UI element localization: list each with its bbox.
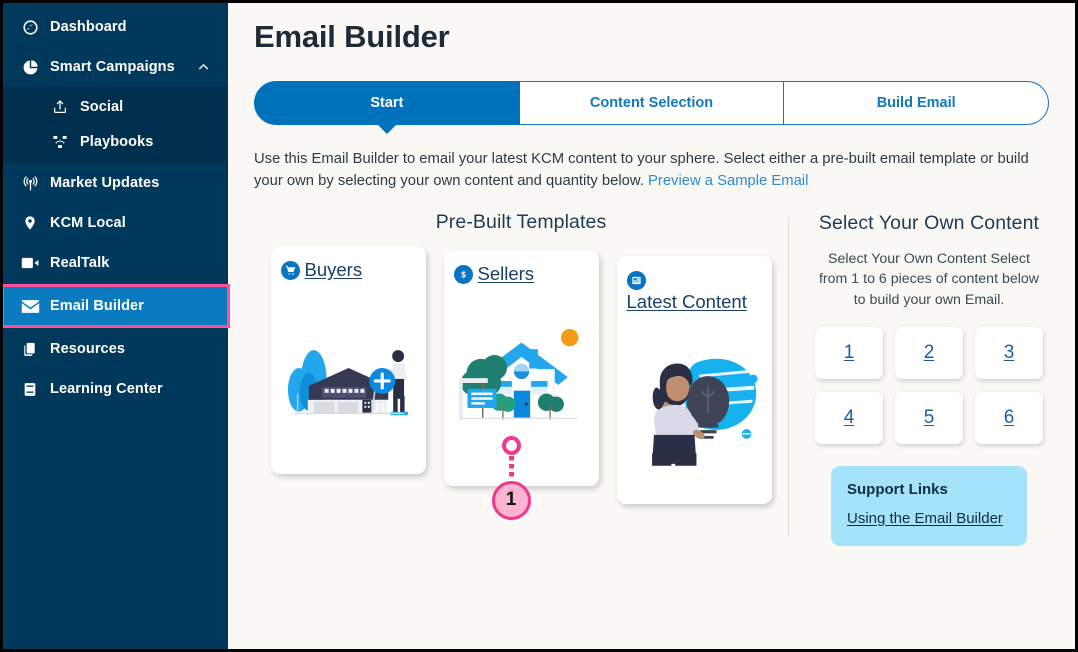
share-upload-icon xyxy=(49,98,71,116)
support-links-title: Support Links xyxy=(847,481,1011,498)
quantity-button-1[interactable]: 1 xyxy=(815,327,883,379)
app-window: Dashboard Smart Campaigns Social xyxy=(0,0,1078,652)
card-title[interactable]: Latest Content xyxy=(627,290,747,314)
sidebar-item-label: RealTalk xyxy=(50,255,109,271)
sidebar-item-label: Market Updates xyxy=(50,175,159,191)
quantity-button-4[interactable]: 4 xyxy=(815,392,883,444)
card-title[interactable]: Sellers xyxy=(478,262,535,286)
intro-text: Use this Email Builder to email your lat… xyxy=(254,151,1029,189)
dollar-sign-icon: $ xyxy=(454,265,473,284)
card-header: Latest Content xyxy=(627,268,762,314)
sidebar-item-learning-center[interactable]: Learning Center xyxy=(3,369,228,409)
sidebar-item-label: Email Builder xyxy=(50,298,144,314)
sidebar-item-kcm-local[interactable]: KCM Local xyxy=(3,203,228,243)
location-pin-icon xyxy=(19,214,41,232)
tab-build-email[interactable]: Build Email xyxy=(784,81,1049,125)
select-your-own-content-panel: Select Your Own Content Select Your Own … xyxy=(789,211,1049,546)
card-header: Buyers xyxy=(281,258,416,282)
house-for-sale-illustration xyxy=(454,285,589,475)
woman-with-lightbulb-illustration xyxy=(627,313,762,493)
page-title: Email Builder xyxy=(254,19,1049,55)
speedometer-icon xyxy=(19,18,41,36)
sidebar-item-realtalk[interactable]: RealTalk xyxy=(3,243,228,283)
sidebar-item-label: Dashboard xyxy=(50,19,127,35)
tab-label: Content Selection xyxy=(590,95,713,111)
preview-sample-email-link[interactable]: Preview a Sample Email xyxy=(648,173,808,189)
sitemap-icon xyxy=(49,133,71,151)
sidebar-item-label: Playbooks xyxy=(80,134,153,150)
svg-text:$: $ xyxy=(461,270,466,279)
tab-label: Build Email xyxy=(877,95,956,111)
quantity-button-5[interactable]: 5 xyxy=(895,392,963,444)
support-links-box: Support Links Using the Email Builder xyxy=(831,466,1027,546)
tab-content-selection[interactable]: Content Selection xyxy=(520,81,785,125)
chevron-up-icon[interactable] xyxy=(197,61,210,74)
video-camera-icon xyxy=(19,254,41,272)
news-article-icon xyxy=(627,271,646,290)
sidebar-submenu-smart-campaigns: Social Playbooks xyxy=(3,87,228,163)
sidebar-item-smart-campaigns[interactable]: Smart Campaigns xyxy=(3,47,228,87)
card-header: $ Sellers xyxy=(454,262,589,286)
template-card-latest-content[interactable]: Latest Content xyxy=(617,256,772,504)
sidebar-item-label: Resources xyxy=(50,341,125,357)
tab-start[interactable]: Start xyxy=(254,81,520,125)
intro-description: Use this Email Builder to email your lat… xyxy=(254,149,1049,193)
tab-bar: Start Content Selection Build Email xyxy=(254,81,1049,125)
card-title[interactable]: Buyers xyxy=(305,258,363,282)
select-content-heading: Select Your Own Content xyxy=(809,211,1049,235)
quantity-button-3[interactable]: 3 xyxy=(975,327,1043,379)
quantity-button-2[interactable]: 2 xyxy=(895,327,963,379)
shopping-cart-icon xyxy=(281,261,300,280)
tab-label: Start xyxy=(370,95,403,111)
using-the-email-builder-link[interactable]: Using the Email Builder xyxy=(847,510,1003,527)
house-with-buyer-illustration xyxy=(281,281,416,463)
template-card-buyers[interactable]: Buyers xyxy=(271,246,426,474)
template-card-list: Buyers xyxy=(254,246,788,504)
main-content: Email Builder Start Content Selection Bu… xyxy=(228,3,1075,649)
select-content-description: Select Your Own Content Select from 1 to… xyxy=(809,249,1049,311)
pie-chart-icon xyxy=(19,58,41,76)
sidebar-item-social[interactable]: Social xyxy=(3,89,228,124)
book-icon xyxy=(19,380,41,398)
quantity-button-6[interactable]: 6 xyxy=(975,392,1043,444)
pre-built-templates-heading: Pre-Built Templates xyxy=(254,211,788,234)
sidebar-item-label: Smart Campaigns xyxy=(50,59,175,75)
sidebar-item-email-builder[interactable]: Email Builder xyxy=(3,286,228,326)
sidebar-item-label: Learning Center xyxy=(50,381,163,397)
quantity-button-grid: 1 2 3 4 5 6 xyxy=(809,327,1049,444)
sidebar-item-resources[interactable]: Resources xyxy=(3,329,228,369)
sidebar-item-dashboard[interactable]: Dashboard xyxy=(3,7,228,47)
envelope-icon xyxy=(19,297,41,315)
pre-built-templates-panel: Pre-Built Templates Buyers xyxy=(254,211,788,546)
sidebar-item-market-updates[interactable]: Market Updates xyxy=(3,163,228,203)
sidebar-item-playbooks[interactable]: Playbooks xyxy=(3,124,228,159)
copy-documents-icon xyxy=(19,340,41,358)
template-card-sellers[interactable]: $ Sellers xyxy=(444,250,599,486)
sidebar-item-label: Social xyxy=(80,99,123,115)
sidebar-item-label: KCM Local xyxy=(50,215,126,231)
sidebar-navigation: Dashboard Smart Campaigns Social xyxy=(3,3,228,649)
broadcast-icon xyxy=(19,174,41,192)
content-columns: Pre-Built Templates Buyers xyxy=(254,211,1049,546)
